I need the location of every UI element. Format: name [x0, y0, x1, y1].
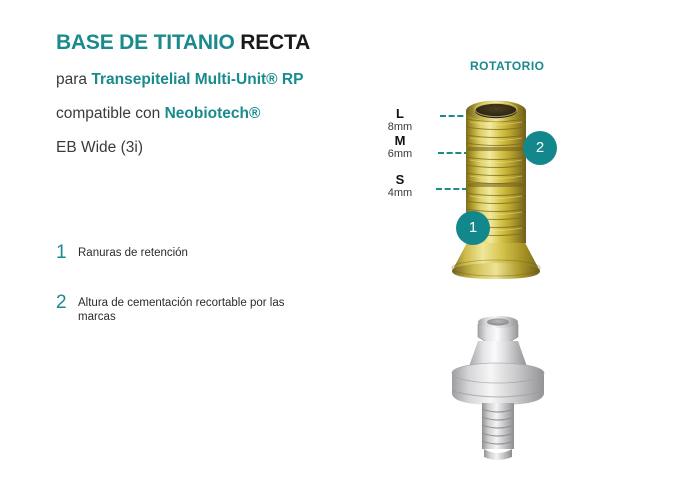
page-title: BASE DE TITANIO RECTA [56, 31, 310, 55]
subtitle-line-3: EB Wide (3i) [56, 139, 143, 157]
subtitle-2-plain: compatible con [56, 105, 165, 122]
gold-flange-rim [452, 263, 540, 279]
titanium-screw-tip [484, 449, 512, 460]
subtitle-line-1: para Transepitelial Multi-Unit® RP [56, 71, 303, 89]
product-illustration [400, 75, 620, 475]
gold-abutment-graphic [452, 101, 540, 280]
page-title-accent: BASE DE TITANIO [56, 31, 235, 54]
subtitle-1-plain: para [56, 71, 91, 88]
legend-text-1: Ranuras de retención [78, 246, 293, 260]
subtitle-line-2: compatible con Neobiotech® [56, 105, 260, 123]
legend-number-1: 1 [56, 243, 74, 263]
rotatorio-label: ROTATORIO [470, 59, 545, 73]
gold-bore [475, 104, 517, 118]
page-root: BASE DE TITANIO RECTA para Transepitelia… [0, 0, 700, 500]
subtitle-1-accent: Transepitelial Multi-Unit® RP [91, 71, 303, 88]
gold-band-m [468, 147, 524, 151]
legend-number-2: 2 [56, 293, 74, 313]
titanium-hex-bore [487, 318, 509, 325]
subtitle-2-accent: Neobiotech® [165, 105, 261, 122]
callout-badge-1[interactable]: 1 [456, 211, 490, 245]
callout-badge-2[interactable]: 2 [523, 131, 557, 165]
titanium-abutment-graphic [452, 316, 544, 460]
page-title-dark: RECTA [240, 31, 310, 54]
legend-text-2: Altura de cementación recortable por las… [78, 296, 293, 324]
